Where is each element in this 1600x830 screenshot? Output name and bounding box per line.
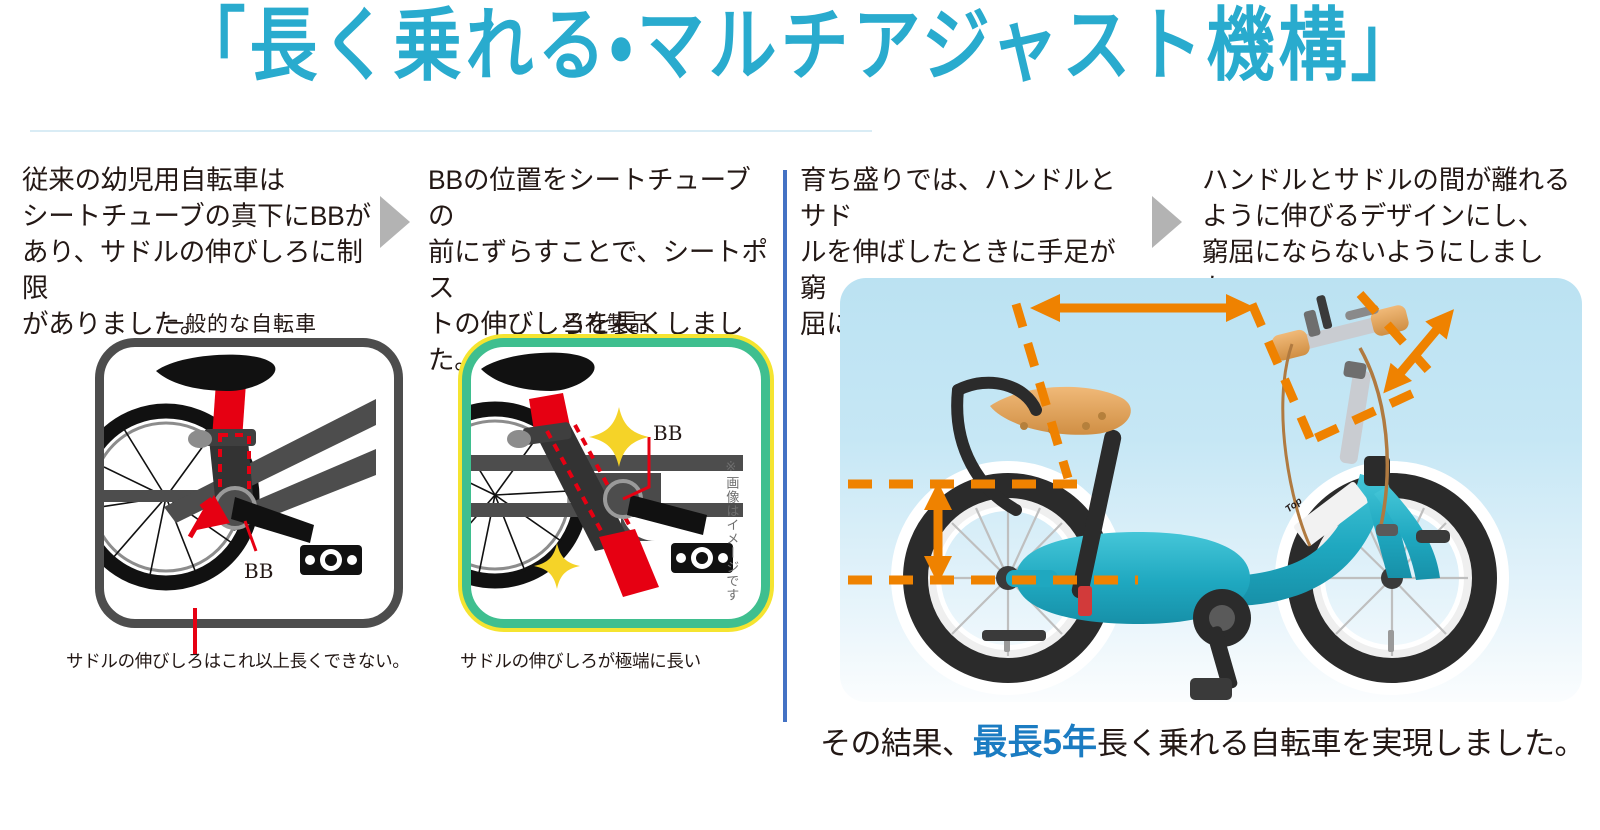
- section-divider: [783, 170, 787, 722]
- handlebar-saddle-distance-arrow: [1030, 294, 1256, 322]
- general-bicycle-svg: [104, 347, 376, 601]
- diagram-2-side-note: ※画像はイメージです: [724, 460, 739, 625]
- arrow-right-icon: [1152, 196, 1182, 248]
- our-product-svg: [471, 347, 743, 601]
- result-tagline: その結果、最長5年長く乗れる自転車を実現しました。: [820, 714, 1580, 765]
- tagline-highlight: 最長5年: [973, 723, 1097, 762]
- bicycle-photo-panel: Top: [840, 278, 1582, 702]
- tagline-suffix: 長く乗れる自転車を実現しました。: [1097, 726, 1585, 761]
- bicycle-photo-svg: [840, 278, 1582, 702]
- diagram-1-bb-label: BB: [244, 559, 273, 583]
- title-divider-rule: [30, 130, 872, 132]
- diagram-1-title: 一般的な自転車: [95, 308, 385, 338]
- diagram-1-illustration: BB: [95, 338, 403, 628]
- page-title: 「長く乗れる・マルチアジャスト機構」: [0, 2, 1600, 92]
- diagram-2-caption: サドルの伸びしろが極端に長い: [460, 648, 701, 673]
- tagline-prefix: その結果、: [820, 726, 973, 761]
- diagram-2-bb-label: BB: [653, 421, 682, 445]
- diagram-2-title: 当社製品: [462, 308, 752, 338]
- arrow-right-icon: [380, 196, 410, 248]
- diagram-1-caption: サドルの伸びしろはこれ以上長くできない。: [66, 648, 409, 673]
